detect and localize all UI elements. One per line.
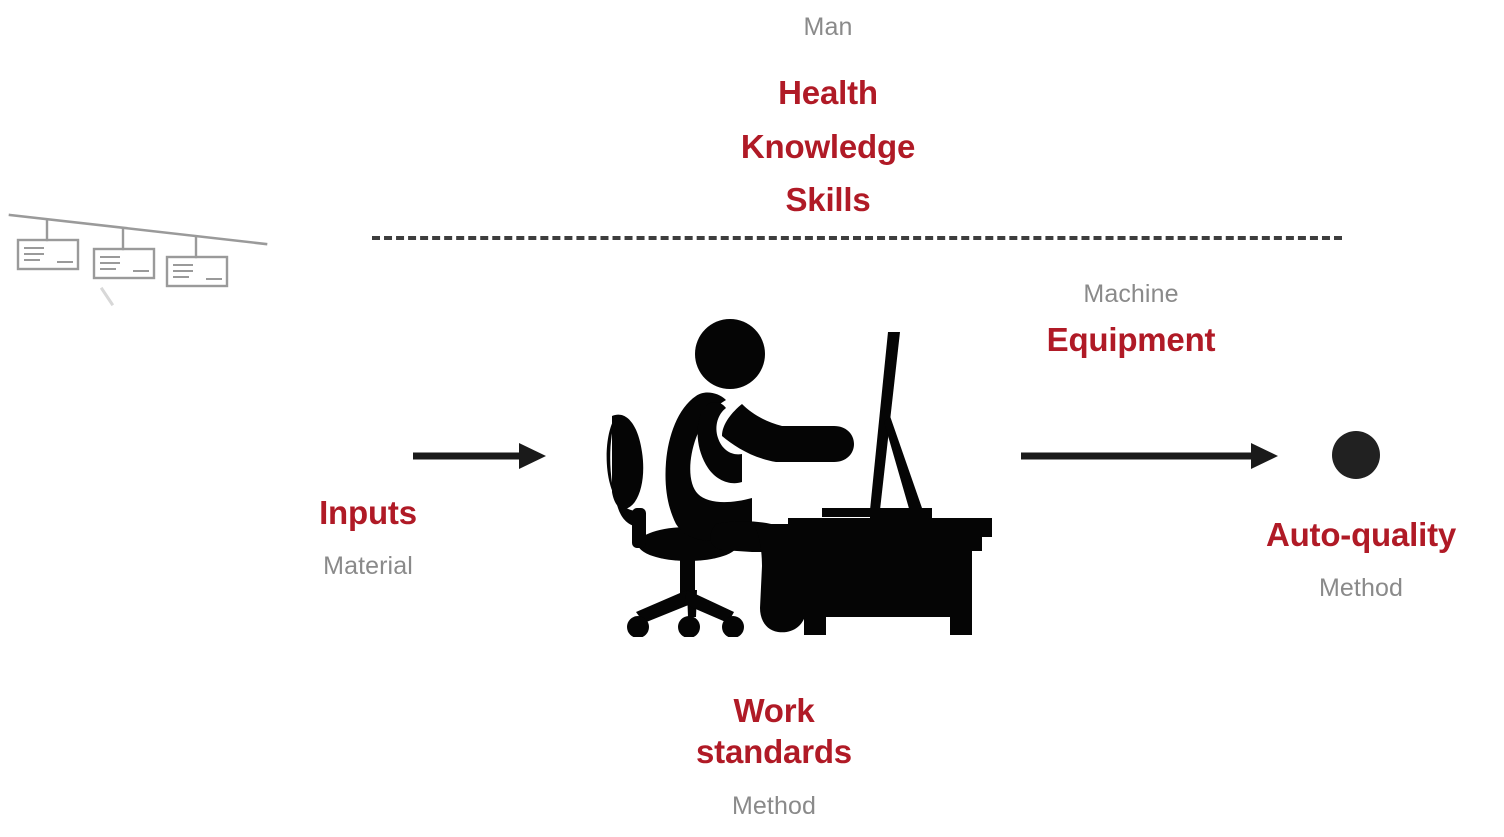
output-key-label: Auto-quality [1161,518,1504,553]
process-label-group: Work standards Method [574,690,974,819]
machine-category-label: Machine [931,281,1331,307]
process-key-line1: Work [574,690,974,731]
dashed-divider [372,236,1342,240]
input-arrow-right-icon [405,437,555,480]
inputs-label-group: Inputs Material [168,496,568,579]
inputs-key-label: Inputs [168,496,568,531]
process-key-line2: standards [574,731,974,772]
hanging-signs-icon [0,196,275,326]
man-key-knowledge: Knowledge [628,120,1028,173]
inputs-category-label: Material [168,553,568,579]
output-arrow-right-icon [1015,437,1285,480]
person-at-desk-icon [592,312,992,642]
man-category-label: Man [628,14,1028,40]
process-category-label: Method [574,793,974,819]
output-category-label: Method [1161,575,1504,601]
man-key-health: Health [628,66,1028,119]
man-key-skills: Skills [628,173,1028,226]
diagram-canvas: Man Health Knowledge Skills Machine Equi… [0,0,1504,837]
output-label-group: Auto-quality Method [1161,518,1504,601]
output-filled-circle-icon [1332,431,1380,479]
man-label-group: Man Health Knowledge Skills [628,14,1028,227]
